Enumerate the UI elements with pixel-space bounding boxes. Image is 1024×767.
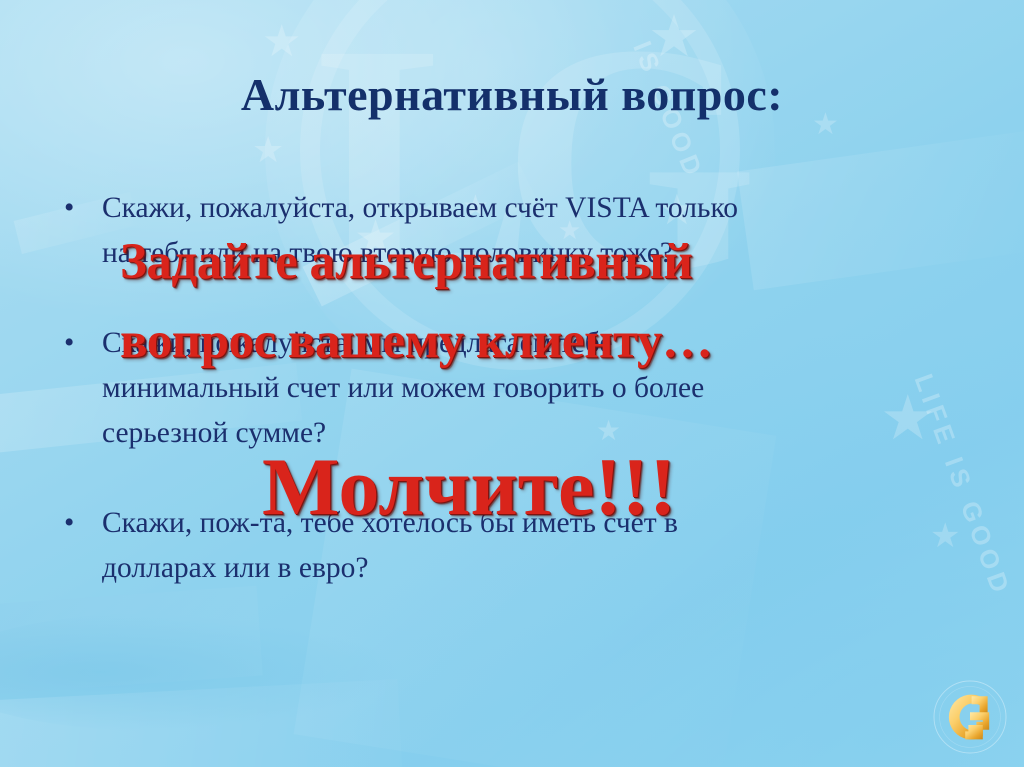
star-icon: ★	[252, 132, 284, 168]
bullet-marker: •	[64, 186, 74, 231]
bullet-marker: •	[64, 501, 74, 546]
slide-title: Альтернативный вопрос:	[0, 68, 1024, 121]
overlay-headline-line-2: вопрос вашему клиенту…	[120, 312, 712, 370]
bullet-line: долларах или в евро?	[102, 546, 968, 591]
bullet-line: минимальный счет или можем говорить о бо…	[102, 366, 968, 411]
background-shard	[0, 679, 402, 767]
bullet-line: Скажи, пожалуйста, открываем счёт VISTA …	[102, 186, 968, 231]
bullet-marker: •	[64, 321, 74, 366]
background-swoosh	[0, 612, 400, 732]
lg-monogram-logo-icon	[930, 677, 1010, 757]
star-icon: ★	[262, 20, 301, 64]
slide-canvas: LG IS GOOD LIFE IS GOOD ★ ★ ★ ★ ★ ★ ★ ★ …	[0, 0, 1024, 767]
overlay-shout-text: Молчите!!!	[262, 440, 676, 534]
overlay-headline-line-1: Задайте альтернативный	[120, 233, 692, 291]
star-icon: ★	[648, 8, 700, 66]
background-shard	[0, 586, 263, 697]
